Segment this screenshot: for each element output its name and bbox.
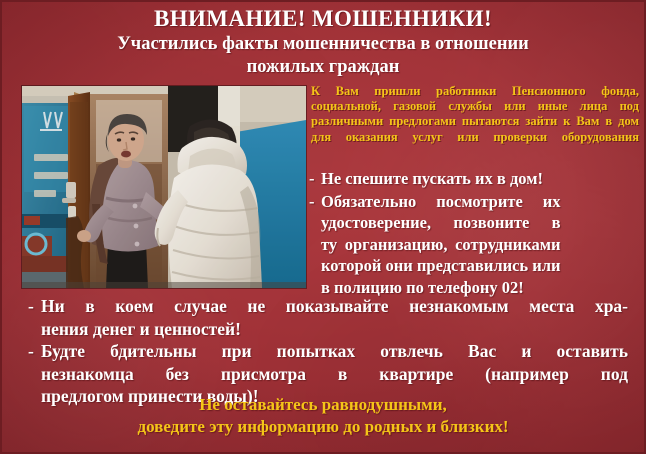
list-item-line: незнакомца без присмотра в квартире (нап… [41,363,628,386]
photo-illustration [22,86,306,288]
list-item-line: Ни в коем случае не показывайте незнаком… [41,295,628,318]
list-item-line: Будте бдительны при попытках отвлечь Вас… [41,340,628,363]
list-item-body: Обязательно посмотрите их удостоверение,… [321,191,561,299]
closing-callout: Не оставайтесь равнодушными, доведите эт… [0,394,646,438]
poster-root: ВНИМАНИЕ! МОШЕННИКИ! Участились факты мо… [0,0,646,454]
list-item-line: удостоверение, позвоните в [321,212,561,234]
bullet-dash: - [28,295,41,318]
list-item-line: которой они представились или [321,255,561,277]
poster-subtitle-line-2: пожилых граждан [40,56,606,79]
list-item-line: Обязательно посмотрите их [321,191,561,213]
list-item: - Ни в коем случае не показывайте незнак… [28,295,628,340]
list-item-line: нения денег и ценностей! [41,318,628,341]
list-item-line: Не спешите пускать их в дом! [321,168,640,190]
closing-callout-line-1: Не оставайтесь равнодушными, [0,394,646,416]
photo-elderly-woman-at-door [22,86,306,288]
list-item: - Обязательно посмотрите их удостоверени… [309,191,640,299]
list-item: - Не спешите пускать их в дом! [309,168,640,190]
right-bullet-list: - Не спешите пускать их в дом! - Обязате… [309,168,640,299]
bullet-dash: - [28,340,41,363]
closing-callout-line-2: доведите эту информацию до родных и близ… [0,416,646,438]
intro-paragraph: К Вам пришли работники Пенсионного фонда… [311,84,639,145]
bullet-dash: - [309,168,321,190]
list-item-line: ту организацию, сотрудниками [321,234,561,256]
poster-subtitle: Участились факты мошенничества в отношен… [40,33,606,79]
lower-bullet-list: - Ни в коем случае не показывайте незнак… [28,295,628,408]
bullet-dash: - [309,191,321,213]
list-item-body: Ни в коем случае не показывайте незнаком… [41,295,628,340]
poster-title: ВНИМАНИЕ! МОШЕННИКИ! [0,6,646,32]
poster-subtitle-line-1: Участились факты мошенничества в отношен… [40,33,606,56]
